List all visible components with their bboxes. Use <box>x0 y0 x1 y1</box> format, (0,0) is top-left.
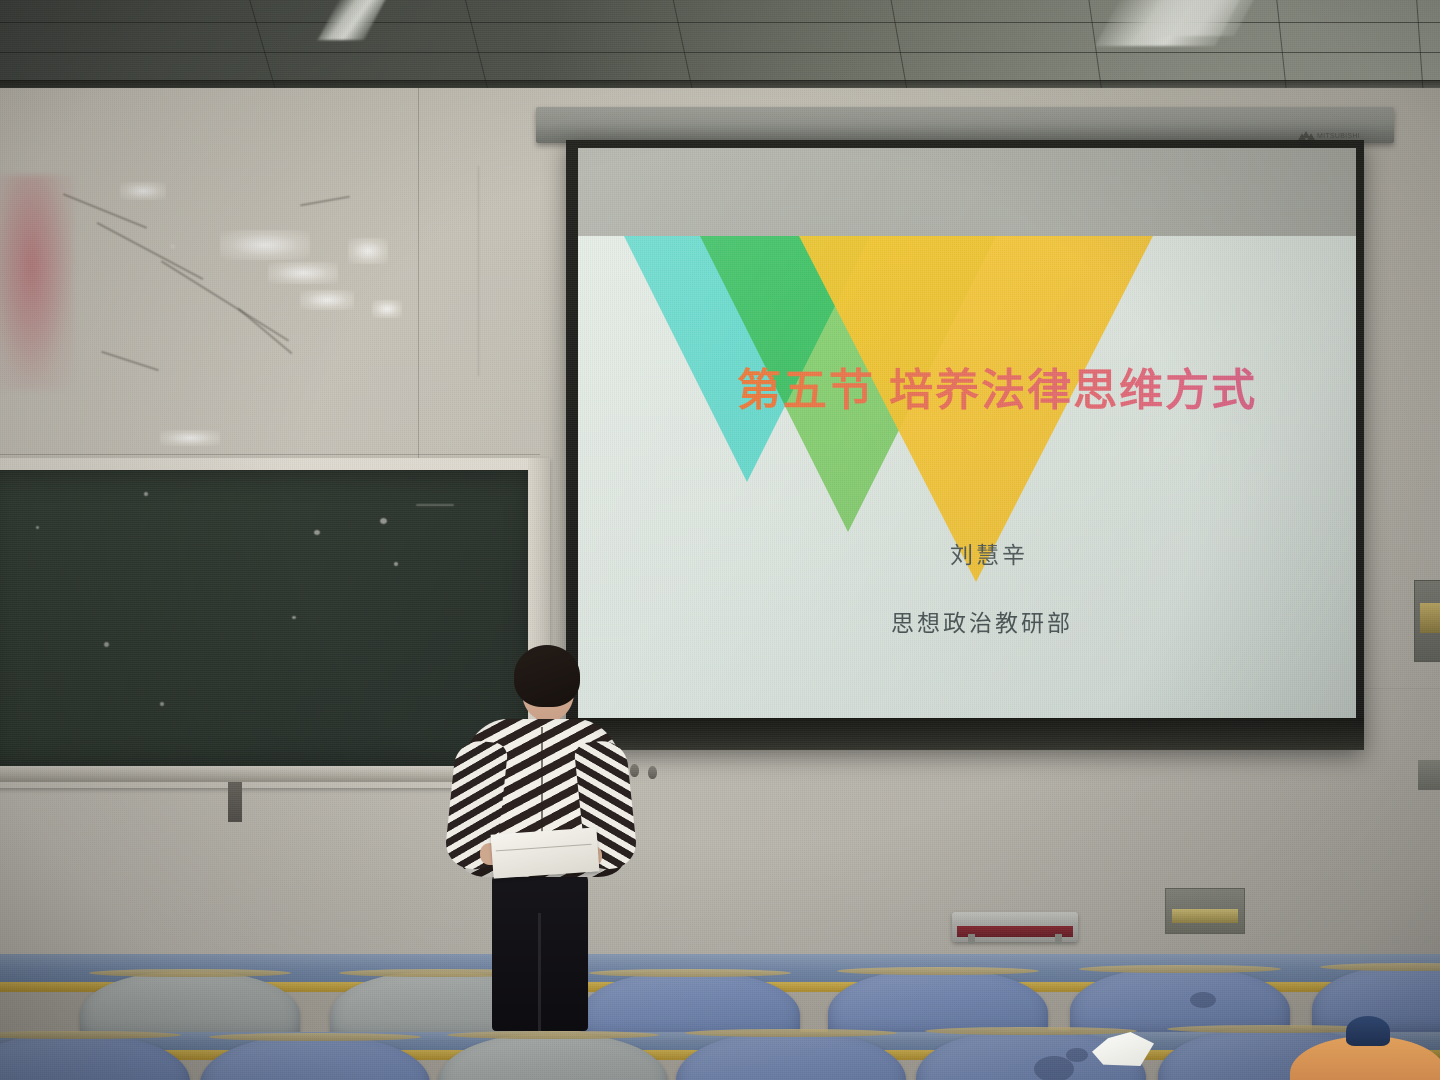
wall-stain <box>0 175 74 390</box>
wall-panel-right-lower[interactable] <box>1418 760 1440 790</box>
peeling-paint <box>348 238 388 264</box>
ceiling-light-fixture <box>1138 0 1257 36</box>
peeling-paint <box>372 300 402 318</box>
peeling-paint <box>120 182 166 200</box>
peeling-paint <box>300 290 354 310</box>
slide-department-name: 思想政治教研部 <box>578 604 1356 638</box>
peeling-paint <box>160 430 220 446</box>
equipment-case[interactable] <box>952 912 1078 942</box>
brand-text: MITSUBISHI <box>1317 133 1360 140</box>
presenter-hair <box>514 645 580 707</box>
presentation-slide: 第五节 培养法律思维方式 刘慧辛 思想政治教研部 <box>578 236 1356 734</box>
presenter-trousers <box>492 871 588 1031</box>
classroom-photo: MITSUBISHI 第五节 培养法律思维方式 刘慧辛 思想政治教研部 <box>0 0 1440 1080</box>
peeling-paint <box>268 262 338 284</box>
projector-screen-housing[interactable]: MITSUBISHI <box>536 107 1394 143</box>
presenter-papers <box>491 827 600 878</box>
wall-hook <box>648 766 657 779</box>
projection-screen-bottom-bar <box>566 718 1364 750</box>
chalk-tray-bracket <box>228 782 242 822</box>
slide-title: 第五节 培养法律思维方式 <box>578 354 1356 418</box>
projection-screen[interactable]: 第五节 培养法律思维方式 刘慧辛 思想政治教研部 <box>578 148 1356 734</box>
ceiling-light-fixture <box>318 0 388 40</box>
wall-outlet-panel[interactable] <box>1165 888 1245 934</box>
peeling-paint <box>220 230 310 260</box>
seated-person-collar <box>1346 1016 1390 1046</box>
wall-panel-right[interactable] <box>1414 580 1440 662</box>
slide-presenter-name: 刘慧辛 <box>578 536 1356 570</box>
lecture-hall-seating <box>0 950 1440 1080</box>
